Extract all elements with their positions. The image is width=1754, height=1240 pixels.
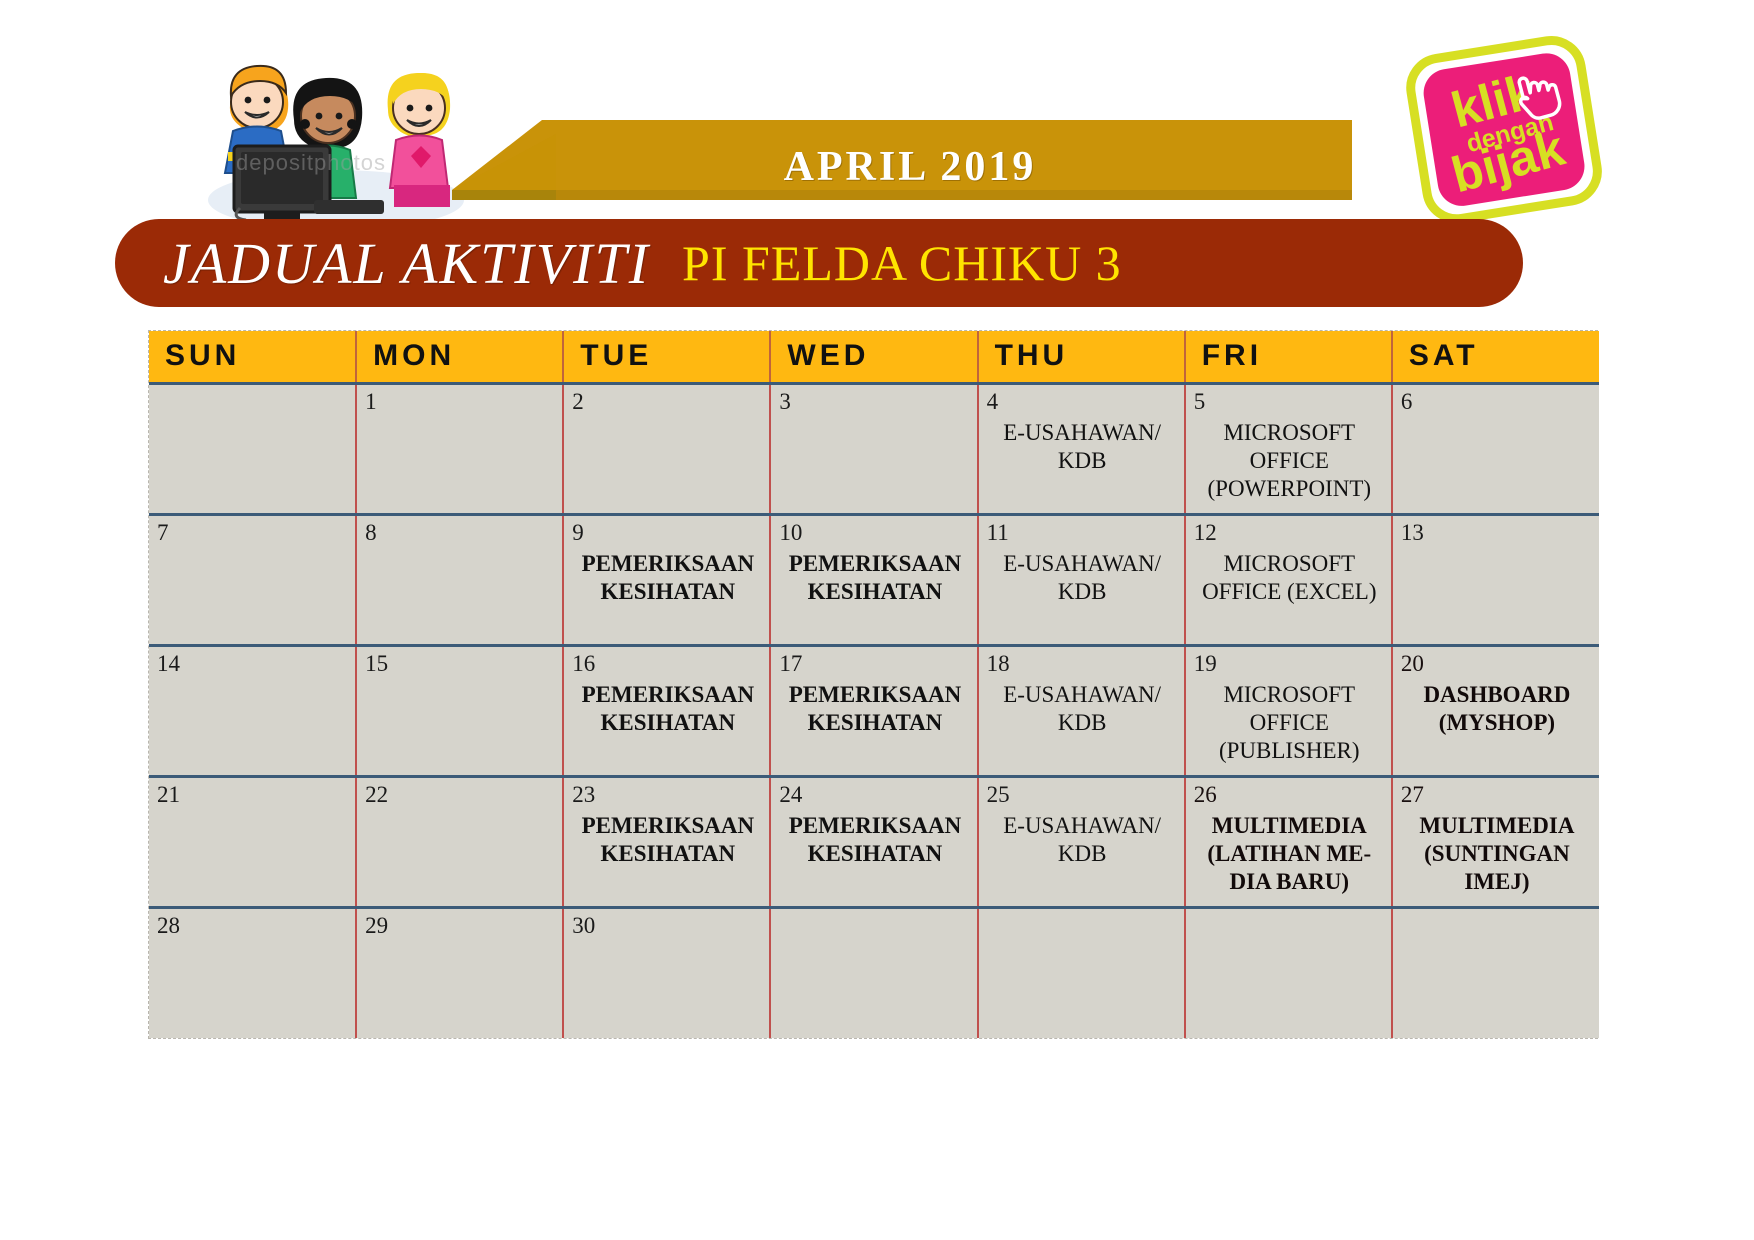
calendar-day-cell[interactable]: 3 bbox=[770, 383, 977, 514]
calendar-empty-cell[interactable] bbox=[1185, 907, 1392, 1038]
calendar-day-cell[interactable]: 26MULTIMEDIA (LATIHAN ME-DIA BARU) bbox=[1185, 776, 1392, 907]
day-number: 11 bbox=[987, 521, 1178, 544]
calendar-day-cell[interactable]: 29 bbox=[356, 907, 563, 1038]
dow-thu: THU bbox=[978, 331, 1185, 383]
day-number: 23 bbox=[572, 783, 763, 806]
day-event-label: MICROSOFT OFFICE (PUBLISHER) bbox=[1194, 681, 1385, 765]
calendar-day-cell[interactable]: 23PEMERIKSAAN KESIHATAN bbox=[563, 776, 770, 907]
day-number: 5 bbox=[1194, 390, 1385, 413]
day-number: 3 bbox=[779, 390, 970, 413]
day-number: 4 bbox=[987, 390, 1178, 413]
calendar-empty-cell[interactable] bbox=[1392, 907, 1599, 1038]
calendar-week-row: 212223PEMERIKSAAN KESIHATAN24PEMERIKSAAN… bbox=[149, 776, 1599, 907]
day-event-label: E-USAHAWAN/ KDB bbox=[987, 419, 1178, 475]
calendar-week-row: 282930 bbox=[149, 907, 1599, 1038]
header-area: depositphotos APRIL 2019 klik dengan bij… bbox=[0, 0, 1754, 245]
day-number: 16 bbox=[572, 652, 763, 675]
dow-sun: SUN bbox=[149, 331, 356, 383]
day-number: 30 bbox=[572, 914, 763, 937]
calendar-header-row: SUN MON TUE WED THU FRI SAT bbox=[149, 331, 1599, 383]
calendar-day-cell[interactable]: 13 bbox=[1392, 514, 1599, 645]
day-event-label: PEMERIKSAAN KESIHATAN bbox=[779, 812, 970, 868]
calendar-week-row: 1234E-USAHAWAN/ KDB5MICROSOFT OFFICE (PO… bbox=[149, 383, 1599, 514]
calendar-day-cell[interactable]: 22 bbox=[356, 776, 563, 907]
calendar-week-row: 141516PEMERIKSAAN KESIHATAN17PEMERIKSAAN… bbox=[149, 645, 1599, 776]
day-number: 13 bbox=[1401, 521, 1593, 544]
calendar-day-cell[interactable]: 14 bbox=[149, 645, 356, 776]
day-number: 12 bbox=[1194, 521, 1385, 544]
day-number: 8 bbox=[365, 521, 556, 544]
calendar-day-cell[interactable]: 8 bbox=[356, 514, 563, 645]
day-number: 26 bbox=[1194, 783, 1385, 806]
day-event-label: DASHBOARD (MYSHOP) bbox=[1401, 681, 1593, 737]
day-event-label: PEMERIKSAAN KESIHATAN bbox=[779, 681, 970, 737]
day-event-label: MICROSOFT OFFICE (EXCEL) bbox=[1194, 550, 1385, 606]
calendar-day-cell[interactable]: 30 bbox=[563, 907, 770, 1038]
day-event-label: PEMERIKSAAN KESIHATAN bbox=[572, 550, 763, 606]
day-number: 27 bbox=[1401, 783, 1593, 806]
day-event-label: MULTIMEDIA (SUNTINGAN IMEJ) bbox=[1401, 812, 1593, 896]
day-number: 17 bbox=[779, 652, 970, 675]
calendar-day-cell[interactable]: 18E-USAHAWAN/ KDB bbox=[978, 645, 1185, 776]
day-event-label: E-USAHAWAN/ KDB bbox=[987, 550, 1178, 606]
calendar-day-cell[interactable]: 15 bbox=[356, 645, 563, 776]
day-number: 19 bbox=[1194, 652, 1385, 675]
day-number: 9 bbox=[572, 521, 763, 544]
day-number: 25 bbox=[987, 783, 1178, 806]
day-event-label: PEMERIKSAAN KESIHATAN bbox=[572, 681, 763, 737]
day-number: 28 bbox=[157, 914, 349, 937]
activity-schedule-title-bar: JADUAL AKTIVITI PI FELDA CHIKU 3 bbox=[115, 219, 1523, 307]
calendar-day-cell[interactable]: 9PEMERIKSAAN KESIHATAN bbox=[563, 514, 770, 645]
day-number: 21 bbox=[157, 783, 349, 806]
dow-wed: WED bbox=[770, 331, 977, 383]
day-number: 22 bbox=[365, 783, 556, 806]
day-event-label: PEMERIKSAAN KESIHATAN bbox=[779, 550, 970, 606]
calendar-day-cell[interactable]: 20DASHBOARD (MYSHOP) bbox=[1392, 645, 1599, 776]
page-subtitle: PI FELDA CHIKU 3 bbox=[682, 234, 1122, 292]
day-number: 7 bbox=[157, 521, 349, 544]
calendar-day-cell[interactable]: 17PEMERIKSAAN KESIHATAN bbox=[770, 645, 977, 776]
day-number: 14 bbox=[157, 652, 349, 675]
day-number: 18 bbox=[987, 652, 1178, 675]
calendar-empty-cell[interactable] bbox=[149, 383, 356, 514]
klik-dengan-bijak-logo: klik dengan bijak bbox=[1404, 34, 1612, 224]
calendar-day-cell[interactable]: 4E-USAHAWAN/ KDB bbox=[978, 383, 1185, 514]
calendar-week-row: 789PEMERIKSAAN KESIHATAN10PEMERIKSAAN KE… bbox=[149, 514, 1599, 645]
day-event-label: MICROSOFT OFFICE (POWERPOINT) bbox=[1194, 419, 1385, 503]
calendar-day-cell[interactable]: 28 bbox=[149, 907, 356, 1038]
calendar-day-cell[interactable]: 19MICROSOFT OFFICE (PUBLISHER) bbox=[1185, 645, 1392, 776]
calendar-grid: SUN MON TUE WED THU FRI SAT 1234E-USAHAW… bbox=[149, 331, 1599, 1038]
calendar-day-cell[interactable]: 27MULTIMEDIA (SUNTINGAN IMEJ) bbox=[1392, 776, 1599, 907]
calendar: SUN MON TUE WED THU FRI SAT 1234E-USAHAW… bbox=[148, 330, 1598, 1039]
calendar-day-cell[interactable]: 7 bbox=[149, 514, 356, 645]
dow-sat: SAT bbox=[1392, 331, 1599, 383]
calendar-day-cell[interactable]: 2 bbox=[563, 383, 770, 514]
calendar-day-cell[interactable]: 11E-USAHAWAN/ KDB bbox=[978, 514, 1185, 645]
month-year-label: APRIL 2019 bbox=[700, 143, 1120, 191]
kids-at-computer-clipart bbox=[188, 28, 468, 226]
dow-mon: MON bbox=[356, 331, 563, 383]
dow-fri: FRI bbox=[1185, 331, 1392, 383]
day-number: 2 bbox=[572, 390, 763, 413]
calendar-day-cell[interactable]: 6 bbox=[1392, 383, 1599, 514]
day-event-label: MULTIMEDIA (LATIHAN ME-DIA BARU) bbox=[1194, 812, 1385, 896]
day-number: 15 bbox=[365, 652, 556, 675]
calendar-day-cell[interactable]: 25E-USAHAWAN/ KDB bbox=[978, 776, 1185, 907]
day-number: 29 bbox=[365, 914, 556, 937]
day-number: 24 bbox=[779, 783, 970, 806]
calendar-day-cell[interactable]: 5MICROSOFT OFFICE (POWERPOINT) bbox=[1185, 383, 1392, 514]
calendar-empty-cell[interactable] bbox=[978, 907, 1185, 1038]
calendar-day-cell[interactable]: 16PEMERIKSAAN KESIHATAN bbox=[563, 645, 770, 776]
day-number: 6 bbox=[1401, 390, 1593, 413]
calendar-day-cell[interactable]: 12MICROSOFT OFFICE (EXCEL) bbox=[1185, 514, 1392, 645]
day-number: 1 bbox=[365, 390, 556, 413]
day-number: 20 bbox=[1401, 652, 1593, 675]
calendar-day-cell[interactable]: 24PEMERIKSAAN KESIHATAN bbox=[770, 776, 977, 907]
day-event-label: PEMERIKSAAN KESIHATAN bbox=[572, 812, 763, 868]
dow-tue: TUE bbox=[563, 331, 770, 383]
calendar-day-cell[interactable]: 10PEMERIKSAAN KESIHATAN bbox=[770, 514, 977, 645]
calendar-day-cell[interactable]: 21 bbox=[149, 776, 356, 907]
calendar-empty-cell[interactable] bbox=[770, 907, 977, 1038]
day-event-label: E-USAHAWAN/ KDB bbox=[987, 681, 1178, 737]
calendar-day-cell[interactable]: 1 bbox=[356, 383, 563, 514]
page-title: JADUAL AKTIVITI bbox=[163, 230, 650, 297]
day-event-label: E-USAHAWAN/ KDB bbox=[987, 812, 1178, 868]
day-number: 10 bbox=[779, 521, 970, 544]
